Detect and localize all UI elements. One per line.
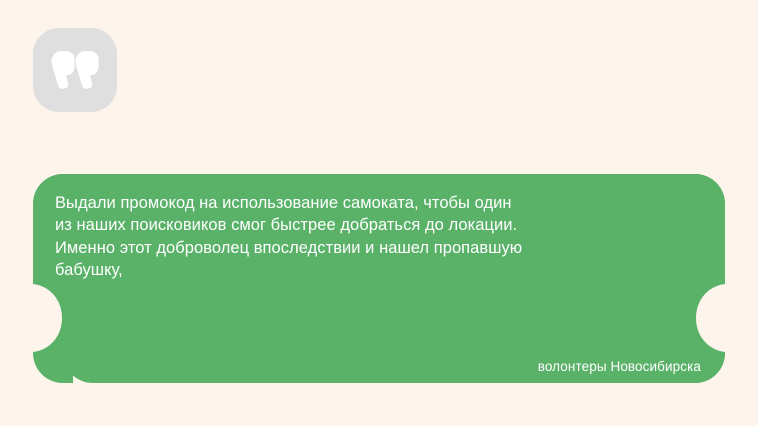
quote-body-text: Выдали промокод на использование самокат… [55,192,703,282]
quote-badge [33,28,117,112]
quote-attribution: волонтеры Новосибирска [538,358,701,376]
slide-canvas: Выдали промокод на использование самокат… [0,0,758,426]
quote-bubble-group: Выдали промокод на использование самокат… [33,174,725,383]
double-quote-icon [51,51,99,89]
